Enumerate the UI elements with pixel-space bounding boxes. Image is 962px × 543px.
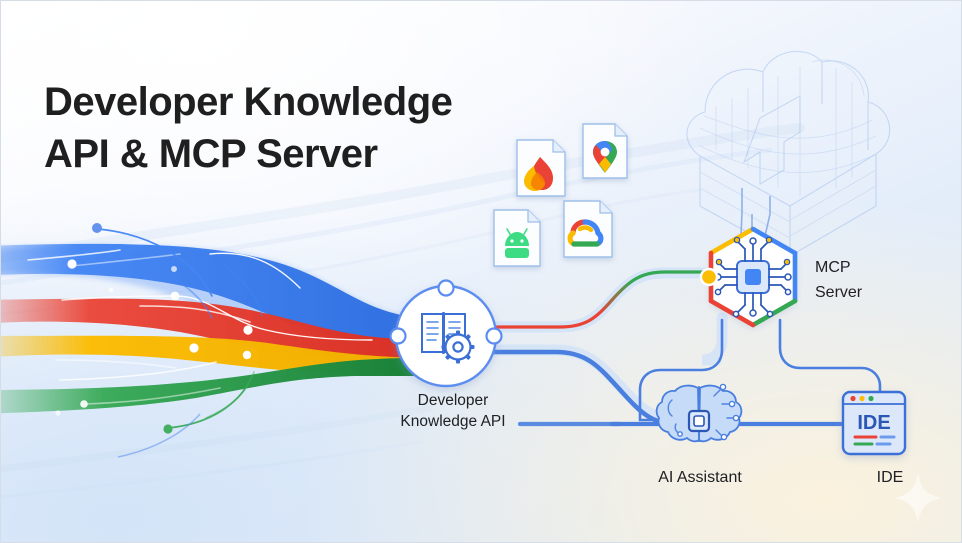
window-dots: [850, 396, 873, 401]
label-developer-knowledge-api: Developer Knowledge API: [343, 390, 563, 432]
label-mcp-server: MCP Server: [815, 255, 955, 305]
label-ide: IDE: [820, 468, 960, 488]
page-title: Developer Knowledge API & MCP Server: [44, 76, 452, 180]
doc-card-google-maps: [583, 124, 627, 178]
doc-card-firebase: [517, 140, 565, 196]
brain-circuit-icon: [657, 384, 742, 442]
port-left: [391, 329, 406, 344]
ide-window-text: IDE: [857, 412, 890, 434]
port-top: [439, 281, 454, 296]
node-ide[interactable]: IDE: [843, 392, 905, 454]
port-right: [487, 329, 502, 344]
gear-icon: [442, 331, 475, 364]
doc-card-android: [494, 210, 540, 266]
node-ai-assistant[interactable]: [657, 384, 742, 442]
diagram-canvas: IDE Developer Knowledge API & MCP Server…: [0, 0, 962, 543]
label-ai-assistant: AI Assistant: [610, 468, 790, 488]
port-left-yellow: [701, 269, 717, 285]
doc-card-google-cloud: [564, 201, 612, 257]
